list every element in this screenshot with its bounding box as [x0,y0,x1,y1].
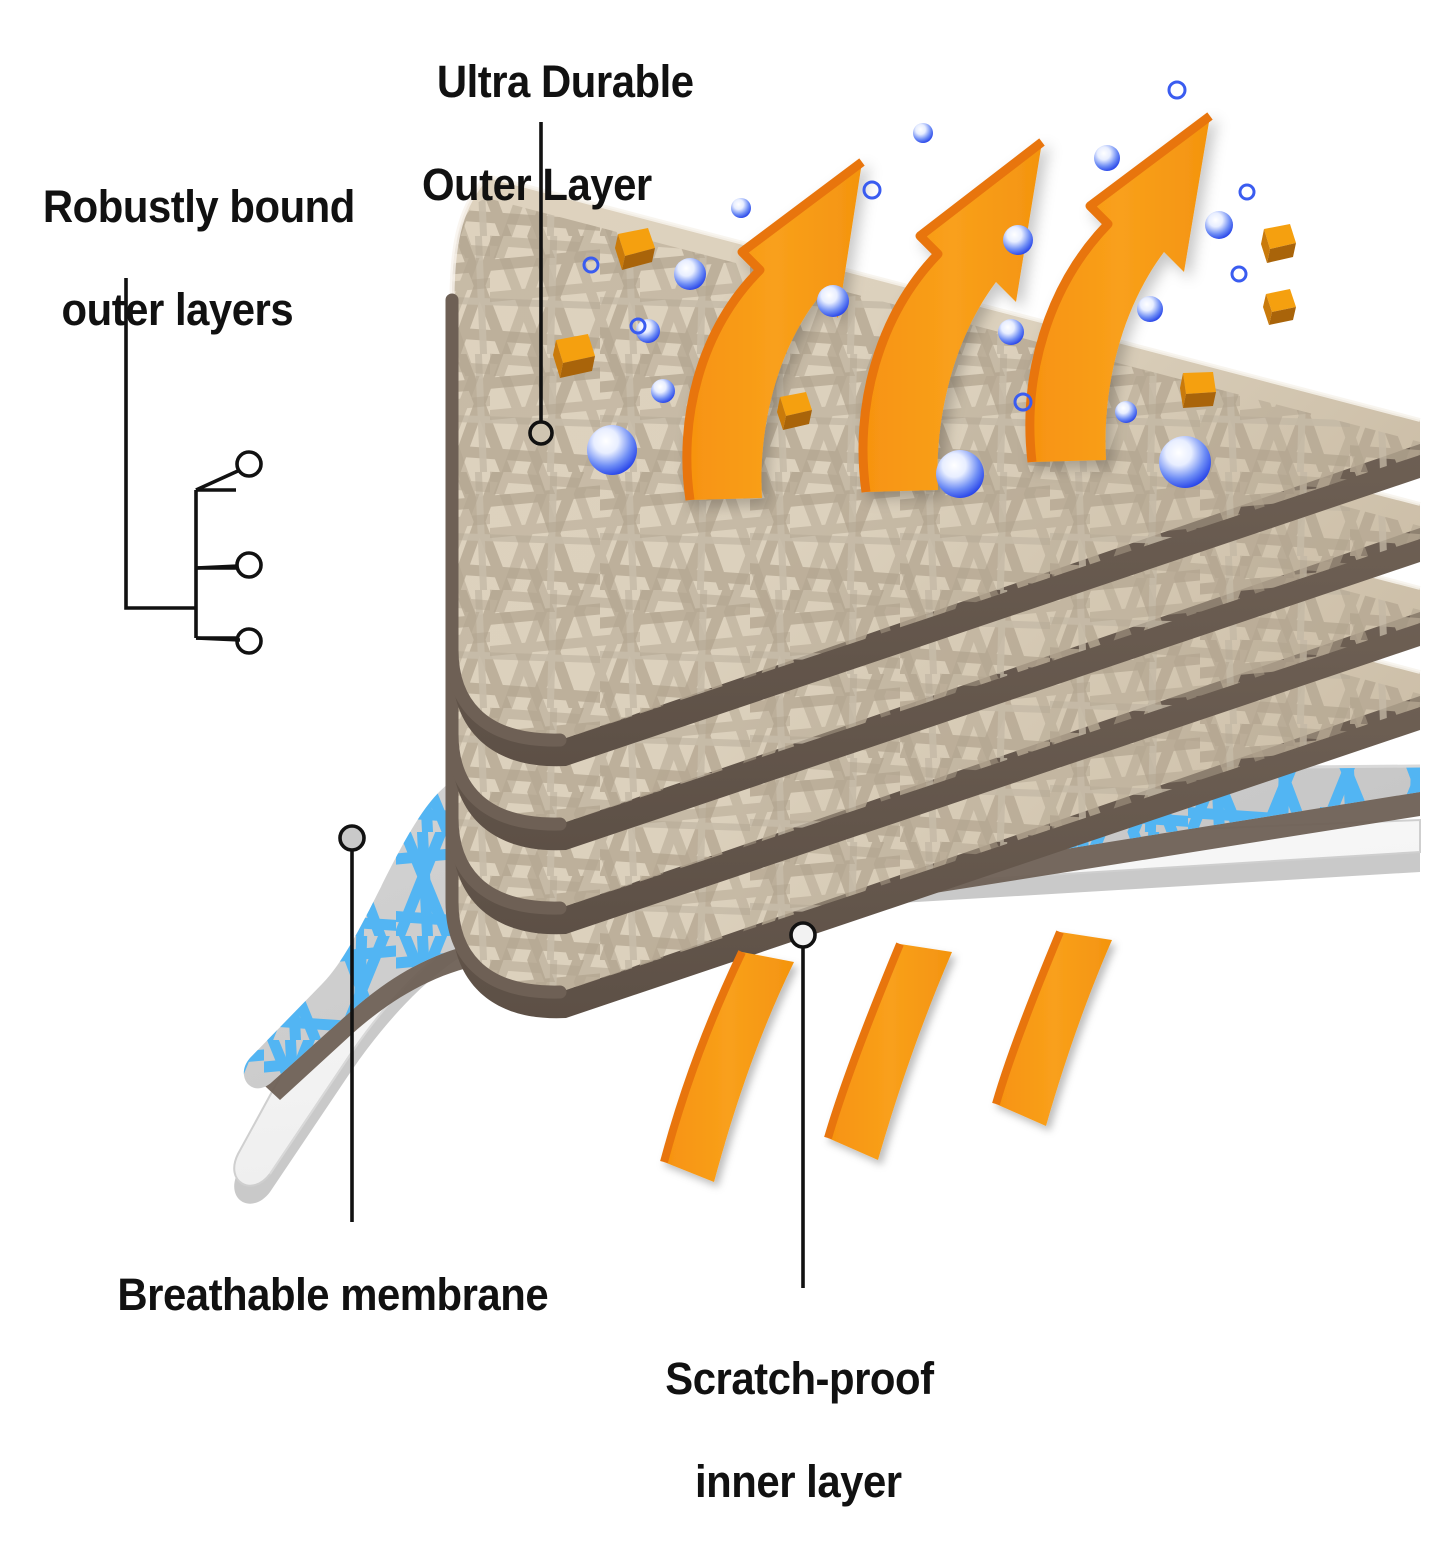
leader-scratch-proof [791,923,815,1288]
dirt-particle [1263,289,1296,325]
dirt-particle [553,334,595,378]
dirt-particle [1180,372,1216,408]
label-robustly-bound-outer-layers: Robustly bound outer layers [21,130,355,386]
label-ultra-durable-outer-layer: Ultra Durable Outer Layer [415,5,694,261]
diagram-canvas: Ultra Durable Outer Layer Robustly bound… [0,0,1445,1410]
label-scratch-proof-inner-layer: Scratch-proof inner layer [643,1302,934,1558]
label-robust-line1: Robustly bound [43,181,355,232]
dirt-particle [1261,224,1296,263]
label-membrane-line1: Breathable membrane [117,1269,548,1320]
airflow-ribbons-down [664,932,1112,1182]
label-scratch-line1: Scratch-proof [665,1353,933,1404]
label-breathable-membrane: Breathable membrane [95,1218,548,1321]
dirt-particle [777,392,812,430]
airflow-ribbon-3 [996,932,1112,1126]
label-outer-line1: Ultra Durable [437,56,694,107]
label-scratch-line2: inner layer [643,1456,934,1507]
label-outer-line2: Outer Layer [415,159,694,210]
label-robust-line2: outer layers [21,284,355,335]
